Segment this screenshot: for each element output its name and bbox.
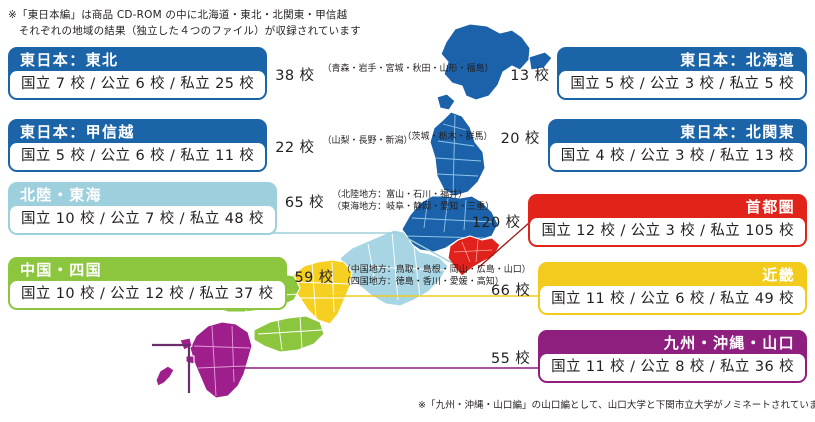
card-tohoku-count: 38 校 <box>267 64 322 85</box>
card-hokkaido-count: 13 校 <box>502 64 557 85</box>
card-hokkaido[interactable]: 13 校 東日本：北海道 国立 5 校 / 公立 3 校 / 私立 5 校 <box>502 47 807 100</box>
card-koshinetsu-count: 22 校 <box>267 136 322 157</box>
card-kitakanto[interactable]: （茨城・栃木・群馬） 20 校 東日本：北関東 国立 4 校 / 公立 3 校 … <box>403 119 807 172</box>
card-chugoku-shikoku-title: 中国・四国 <box>10 259 112 281</box>
card-shutoken-count: 120 校 <box>464 211 529 232</box>
card-tohoku-detail: 国立 7 校 / 公立 6 校 / 私立 25 校 <box>10 71 265 98</box>
card-chugoku-shikoku-detail: 国立 10 校 / 公立 12 校 / 私立 37 校 <box>10 281 285 308</box>
map-region-kyushu <box>190 322 252 398</box>
card-chugoku-shikoku[interactable]: 中国・四国 国立 10 校 / 公立 12 校 / 私立 37 校 59 校 （… <box>8 257 531 310</box>
card-kitakanto-sub: （茨城・栃木・群馬） <box>403 132 493 143</box>
card-shutoken[interactable]: 120 校 首都圏 国立 12 校 / 公立 3 校 / 私立 105 校 <box>464 194 807 247</box>
card-shutoken-title: 首都圏 <box>736 196 805 218</box>
card-hokuriku-tokai-count: 65 校 <box>277 191 332 212</box>
card-kyushu[interactable]: 55 校 九州・沖縄・山口 国立 11 校 / 公立 8 校 / 私立 36 校 <box>483 330 807 383</box>
card-tohoku[interactable]: 東日本：東北 国立 7 校 / 公立 6 校 / 私立 25 校 38 校 （青… <box>8 47 493 100</box>
card-hokkaido-title: 東日本：北海道 <box>670 49 805 71</box>
bottom-note: ※「九州・沖縄・山口編」の山口編として、山口大学と下関市立大学がノミネートされて… <box>418 397 815 411</box>
card-hokuriku-tokai-detail: 国立 10 校 / 公立 7 校 / 私立 48 校 <box>10 206 275 233</box>
card-kyushu-title: 九州・沖縄・山口 <box>654 332 805 354</box>
card-hokkaido-detail: 国立 5 校 / 公立 3 校 / 私立 5 校 <box>559 71 805 98</box>
card-koshinetsu[interactable]: 東日本：甲信越 国立 5 校 / 公立 6 校 / 私立 11 校 22 校 （… <box>8 119 412 172</box>
card-kinki[interactable]: 66 校 近畿 国立 11 校 / 公立 6 校 / 私立 49 校 <box>483 262 807 315</box>
card-chugoku-shikoku-count: 59 校 <box>287 266 342 287</box>
card-kyushu-count: 55 校 <box>483 347 538 368</box>
card-hokuriku-tokai[interactable]: 北陸・東海 国立 10 校 / 公立 7 校 / 私立 48 校 65 校 （北… <box>8 182 494 235</box>
card-kinki-count: 66 校 <box>483 279 538 300</box>
card-tohoku-title: 東日本：東北 <box>10 49 128 71</box>
card-koshinetsu-title: 東日本：甲信越 <box>10 121 145 143</box>
map-region-okinawa <box>156 366 174 386</box>
card-koshinetsu-sub: （山梨・長野・新潟） <box>322 136 412 147</box>
card-kinki-title: 近畿 <box>752 264 805 286</box>
card-kyushu-detail: 国立 11 校 / 公立 8 校 / 私立 36 校 <box>540 354 805 381</box>
card-tohoku-sub: （青森・岩手・宮城・秋田・山形・福島） <box>322 64 493 75</box>
card-kinki-detail: 国立 11 校 / 公立 6 校 / 私立 49 校 <box>540 286 805 313</box>
card-koshinetsu-detail: 国立 5 校 / 公立 6 校 / 私立 11 校 <box>10 143 265 170</box>
card-kitakanto-count: 20 校 <box>493 127 548 148</box>
card-shutoken-detail: 国立 12 校 / 公立 3 校 / 私立 105 校 <box>530 218 805 245</box>
card-kitakanto-title: 東日本：北関東 <box>670 121 805 143</box>
card-kitakanto-detail: 国立 4 校 / 公立 3 校 / 私立 13 校 <box>550 143 805 170</box>
card-hokuriku-tokai-title: 北陸・東海 <box>10 184 112 206</box>
